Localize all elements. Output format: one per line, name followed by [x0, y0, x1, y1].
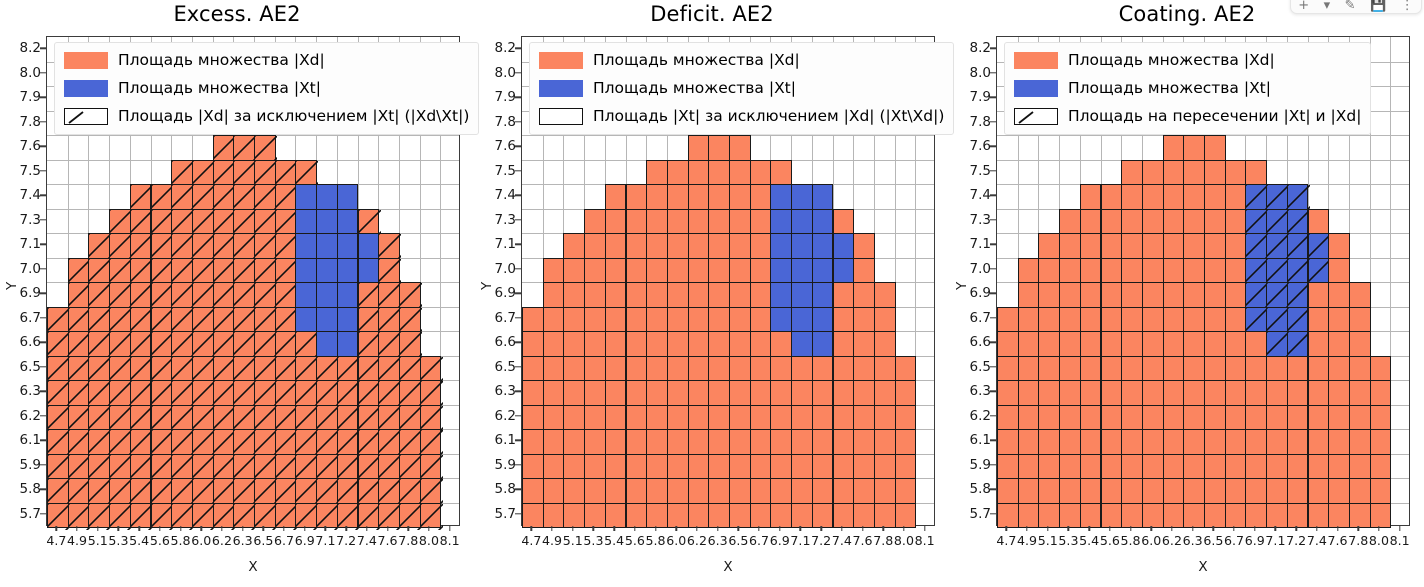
y-tick-label: 5.9 — [495, 457, 516, 473]
cell-xd — [1059, 307, 1081, 333]
cell-xd — [812, 356, 834, 382]
cell-xd — [874, 454, 896, 480]
cell-xd — [254, 160, 276, 186]
x-tick-label: 7.2 — [1286, 533, 1306, 548]
floating-toolbar[interactable]: + ▾ ✎ 💾 ⋮ — [1290, 0, 1422, 14]
y-tick-label: 6.7 — [970, 310, 991, 326]
cell-xd — [874, 307, 896, 333]
cell-xd — [853, 503, 875, 529]
cell-xd — [997, 429, 1019, 455]
cell-xt — [316, 331, 338, 357]
y-tick-mark — [40, 489, 46, 490]
cell-xd — [171, 160, 193, 186]
cell-xd — [295, 503, 317, 529]
cell-xd — [1163, 307, 1185, 333]
cell-xd — [1038, 282, 1060, 308]
figure-canvas: + ▾ ✎ 💾 ⋮ Excess. AE2Y8.28.07.97.87.67.5… — [0, 0, 1424, 587]
y-tick-mark — [990, 170, 996, 171]
cell-xd — [1204, 405, 1226, 431]
y-tick-label: 6.6 — [970, 334, 991, 350]
cell-xd — [68, 356, 90, 382]
cell-xd — [646, 282, 668, 308]
x-tick-label: 7.8 — [873, 533, 893, 548]
cell-xd — [708, 135, 730, 161]
cell-xd — [233, 331, 255, 357]
cell-xd — [874, 282, 896, 308]
x-tick-mark — [1026, 526, 1027, 531]
x-tick-mark — [118, 526, 119, 531]
cell-xd — [1018, 478, 1040, 504]
cell-xd — [1370, 454, 1392, 480]
cell-xd — [1038, 233, 1060, 259]
cell-xd — [1101, 405, 1123, 431]
cell-xt — [1245, 209, 1267, 235]
cell-xt — [1308, 233, 1330, 259]
cell-xd — [1080, 282, 1102, 308]
cell-xd — [378, 233, 400, 259]
x-tick-mark — [304, 526, 305, 531]
x-tick-label: 6.9 — [295, 533, 315, 548]
cell-xd — [399, 503, 421, 529]
cell-xd — [770, 356, 792, 382]
legend-label: Площадь множества |Xt| — [118, 81, 321, 97]
cell-xd — [770, 503, 792, 529]
cell-xd — [254, 331, 276, 357]
cell-xd — [874, 429, 896, 455]
cell-xd — [812, 503, 834, 529]
x-tick-label: 5.8 — [171, 533, 191, 548]
cell-xd — [1059, 331, 1081, 357]
cell-xt — [833, 258, 855, 284]
x-tick-label: 5.8 — [646, 533, 666, 548]
cell-xd — [626, 405, 648, 431]
cell-xd — [275, 233, 297, 259]
cell-xt — [791, 331, 813, 357]
cell-xd — [109, 405, 131, 431]
cell-xd — [1142, 478, 1164, 504]
cell-xd — [750, 503, 772, 529]
x-tick-label: 5.8 — [1121, 533, 1141, 548]
x-tick-mark — [1192, 526, 1193, 531]
cell-xd — [791, 429, 813, 455]
cell-xd — [378, 258, 400, 284]
cell-xd — [1121, 380, 1143, 406]
cell-xd — [853, 380, 875, 406]
cell-xd — [1080, 503, 1102, 529]
cell-xd — [1101, 429, 1123, 455]
cell-xt — [1308, 258, 1330, 284]
y-tick-mark — [40, 366, 46, 367]
cell-xd — [770, 160, 792, 186]
y-tick-label: 6.1 — [970, 432, 991, 448]
legend: Площадь множества |Xd|Площадь множества … — [54, 42, 479, 135]
cell-xd — [1038, 503, 1060, 529]
legend-swatch-hatched — [64, 108, 108, 125]
cell-xd — [1080, 454, 1102, 480]
x-tick-label: 5.6 — [1100, 533, 1120, 548]
cell-xd — [68, 258, 90, 284]
cell-xd — [1101, 503, 1123, 529]
cell-xd — [254, 405, 276, 431]
cell-xd — [1163, 258, 1185, 284]
cell-xd — [1018, 331, 1040, 357]
x-tick-mark — [531, 526, 532, 531]
y-tick-mark — [40, 317, 46, 318]
cell-xd — [1204, 184, 1226, 210]
cell-xt — [337, 282, 359, 308]
cell-xd — [47, 331, 69, 357]
cell-xd — [853, 307, 875, 333]
cell-xt — [1287, 282, 1309, 308]
cell-xd — [1163, 454, 1185, 480]
cell-xd — [750, 258, 772, 284]
cell-xd — [563, 380, 585, 406]
cell-xd — [1121, 160, 1143, 186]
cell-xd — [1101, 454, 1123, 480]
legend-swatch-xd — [539, 52, 583, 69]
cell-xd — [688, 405, 710, 431]
cell-xd — [1183, 307, 1205, 333]
cell-xd — [1142, 331, 1164, 357]
cell-xd — [1018, 503, 1040, 529]
cell-xd — [1121, 184, 1143, 210]
cell-xd — [543, 331, 565, 357]
cell-xd — [543, 258, 565, 284]
cell-xd — [151, 258, 173, 284]
y-tick-mark — [515, 489, 521, 490]
cell-xd — [833, 356, 855, 382]
cell-xt — [337, 331, 359, 357]
x-tick-label: 5.4 — [604, 533, 624, 548]
y-tick-label: 6.2 — [20, 408, 41, 424]
cell-xd — [853, 258, 875, 284]
cell-xd — [1328, 307, 1350, 333]
cell-xd — [192, 258, 214, 284]
cell-xd — [1142, 209, 1164, 235]
cell-xd — [791, 503, 813, 529]
x-tick-mark — [201, 526, 202, 531]
cell-xd — [1018, 380, 1040, 406]
cell-xd — [729, 478, 751, 504]
cell-xd — [1142, 184, 1164, 210]
cell-xd — [1349, 405, 1371, 431]
cell-xt — [1245, 258, 1267, 284]
x-tick-mark — [634, 526, 635, 531]
cell-xd — [1245, 356, 1267, 382]
cell-xd — [1266, 356, 1288, 382]
cell-xd — [1308, 356, 1330, 382]
cell-xd — [47, 356, 69, 382]
cell-xt — [358, 258, 380, 284]
cell-xd — [1080, 331, 1102, 357]
cell-xd — [358, 503, 380, 529]
cell-xd — [729, 356, 751, 382]
panel-deficit: Deficit. AE2Y8.28.07.97.87.67.57.47.37.1… — [475, 0, 949, 587]
cell-xd — [1121, 454, 1143, 480]
x-tick-mark — [1068, 526, 1069, 531]
x-tick-mark — [1337, 526, 1338, 531]
cell-xd — [1287, 429, 1309, 455]
cell-xd — [337, 478, 359, 504]
x-tick-label: 4.9 — [542, 533, 562, 548]
legend-swatch-plain — [539, 108, 583, 125]
cell-xd — [130, 184, 152, 210]
cell-xd — [316, 454, 338, 480]
cell-xd — [543, 429, 565, 455]
cell-xd — [997, 307, 1019, 333]
cell-xd — [667, 405, 689, 431]
cell-xd — [275, 429, 297, 455]
cell-xd — [1121, 209, 1143, 235]
legend-swatch-xd — [64, 52, 108, 69]
y-tick-mark — [515, 464, 521, 465]
cell-xd — [708, 282, 730, 308]
cell-xd — [688, 331, 710, 357]
cell-xt — [1245, 184, 1267, 210]
cell-xd — [1204, 135, 1226, 161]
cell-xd — [1101, 356, 1123, 382]
y-tick-mark — [40, 268, 46, 269]
cell-xd — [833, 307, 855, 333]
cell-xd — [109, 478, 131, 504]
cell-xd — [275, 503, 297, 529]
legend-label: Площадь множества |Xt| — [1068, 81, 1271, 97]
cell-xt — [1287, 184, 1309, 210]
cell-xd — [1101, 258, 1123, 284]
cell-xd — [109, 454, 131, 480]
y-tick-mark — [40, 121, 46, 122]
cell-xd — [812, 478, 834, 504]
cell-xd — [1204, 209, 1226, 235]
plus-icon[interactable]: + — [1298, 0, 1309, 12]
cell-xd — [750, 233, 772, 259]
cell-xd — [399, 429, 421, 455]
cell-xd — [708, 184, 730, 210]
cell-xd — [750, 184, 772, 210]
cell-xd — [1183, 184, 1205, 210]
y-tick-mark — [515, 170, 521, 171]
legend-item: Площадь |Xd| за исключением |Xt| (|Xd\Xt… — [64, 106, 469, 127]
x-tick-label: 7.4 — [1307, 533, 1327, 548]
cell-xd — [1308, 331, 1330, 357]
cell-xd — [358, 331, 380, 357]
cell-xd — [233, 454, 255, 480]
cell-xd — [1225, 429, 1247, 455]
chevron-down-icon[interactable]: ▾ — [1324, 0, 1331, 12]
cell-xd — [399, 282, 421, 308]
cell-xd — [358, 429, 380, 455]
x-tick-label: 6.2 — [212, 533, 232, 548]
x-tick-label: 7.1 — [790, 533, 810, 548]
cell-xd — [1183, 380, 1205, 406]
cell-xd — [667, 331, 689, 357]
cell-xd — [1287, 478, 1309, 504]
cell-xd — [275, 405, 297, 431]
y-tick-label: 8.0 — [20, 65, 41, 81]
cell-xd — [708, 503, 730, 529]
cell-xd — [1121, 356, 1143, 382]
x-tick-label: 5.4 — [1079, 533, 1099, 548]
cell-xd — [151, 454, 173, 480]
cell-xd — [337, 454, 359, 480]
cell-xd — [130, 454, 152, 480]
cell-xd — [1080, 356, 1102, 382]
cell-xd — [109, 258, 131, 284]
cell-xd — [1328, 331, 1350, 357]
y-tick-mark — [990, 415, 996, 416]
cell-xd — [1101, 478, 1123, 504]
more-icon[interactable]: ⋮ — [1401, 0, 1414, 12]
cell-xt — [812, 331, 834, 357]
x-tick-mark — [1254, 526, 1255, 531]
y-tick-mark — [40, 391, 46, 392]
cell-xd — [1245, 478, 1267, 504]
cell-xd — [1308, 503, 1330, 529]
cell-xd — [833, 429, 855, 455]
x-axis-label: X — [521, 559, 935, 575]
cell-xd — [1183, 429, 1205, 455]
cell-xd — [130, 209, 152, 235]
cell-xd — [626, 331, 648, 357]
cell-xd — [750, 405, 772, 431]
cell-xd — [1038, 258, 1060, 284]
x-tick-label: 7.6 — [853, 533, 873, 548]
cell-xd — [1370, 503, 1392, 529]
cell-xd — [667, 356, 689, 382]
y-tick-mark — [990, 244, 996, 245]
cell-xd — [337, 356, 359, 382]
cell-xd — [1163, 503, 1185, 529]
y-tick-label: 7.8 — [495, 114, 516, 130]
cell-xd — [213, 233, 235, 259]
x-tick-label: 6.3 — [708, 533, 728, 548]
cell-xd — [1059, 478, 1081, 504]
cell-xd — [420, 429, 442, 455]
cell-xd — [1245, 405, 1267, 431]
cell-xt — [316, 258, 338, 284]
cell-xd — [275, 356, 297, 382]
cell-xt — [337, 209, 359, 235]
cell-xd — [770, 478, 792, 504]
cell-xd — [833, 503, 855, 529]
cell-xd — [543, 356, 565, 382]
cell-xd — [708, 331, 730, 357]
cell-xd — [378, 282, 400, 308]
cell-xd — [1349, 478, 1371, 504]
cell-xd — [192, 380, 214, 406]
cell-xd — [1204, 160, 1226, 186]
cell-xd — [1038, 307, 1060, 333]
cell-xd — [853, 282, 875, 308]
cell-xd — [233, 282, 255, 308]
cell-xd — [254, 233, 276, 259]
cell-xd — [275, 331, 297, 357]
pencil-icon[interactable]: ✎ — [1345, 0, 1356, 12]
x-tick-mark — [180, 526, 181, 531]
cell-xt — [295, 209, 317, 235]
y-tick-label: 8.2 — [495, 40, 516, 56]
cell-xd — [667, 307, 689, 333]
cell-xd — [584, 331, 606, 357]
cell-xd — [171, 233, 193, 259]
cell-xd — [88, 258, 110, 284]
cell-xd — [646, 356, 668, 382]
cell-xd — [1308, 282, 1330, 308]
cell-xd — [1287, 454, 1309, 480]
legend-label: Площадь множества |Xt| — [593, 81, 796, 97]
cell-xd — [1059, 429, 1081, 455]
cell-xd — [1287, 503, 1309, 529]
y-tick-mark — [515, 293, 521, 294]
cell-xd — [708, 356, 730, 382]
cell-xt — [1266, 258, 1288, 284]
cell-xd — [151, 405, 173, 431]
x-tick-mark — [263, 526, 264, 531]
x-tick-mark — [366, 526, 367, 531]
cell-xd — [47, 454, 69, 480]
cell-xd — [151, 307, 173, 333]
y-tick-label: 5.7 — [970, 506, 991, 522]
cell-xd — [1059, 282, 1081, 308]
cell-xd — [1245, 160, 1267, 186]
y-tick-label: 7.9 — [20, 89, 41, 105]
cell-xd — [254, 478, 276, 504]
cell-xd — [213, 282, 235, 308]
cell-xd — [729, 233, 751, 259]
cell-xd — [1080, 258, 1102, 284]
legend-item: Площадь множества |Xt| — [64, 78, 469, 99]
x-tick-mark — [841, 526, 842, 531]
cell-xd — [213, 454, 235, 480]
x-tick-mark — [138, 526, 139, 531]
y-tick-label: 7.1 — [970, 236, 991, 252]
cell-xd — [708, 307, 730, 333]
cell-xd — [626, 478, 648, 504]
y-tick-mark — [990, 440, 996, 441]
cell-xd — [1328, 503, 1350, 529]
cell-xd — [646, 258, 668, 284]
cell-xd — [874, 380, 896, 406]
cell-xd — [1349, 503, 1371, 529]
cell-xd — [358, 380, 380, 406]
x-tick-label: 5.1 — [88, 533, 108, 548]
y-tick-mark — [515, 48, 521, 49]
legend-swatch-hatched — [1014, 108, 1058, 125]
x-tick-mark — [428, 526, 429, 531]
cell-xd — [1204, 503, 1226, 529]
cell-xd — [1245, 331, 1267, 357]
legend-item: Площадь множества |Xt| — [539, 78, 944, 99]
cell-xd — [1059, 233, 1081, 259]
cell-xd — [563, 478, 585, 504]
cell-xd — [171, 503, 193, 529]
cell-xd — [667, 478, 689, 504]
x-tick-mark — [758, 526, 759, 531]
save-icon[interactable]: 💾 — [1370, 0, 1386, 12]
cell-xd — [1183, 282, 1205, 308]
cell-xd — [1038, 405, 1060, 431]
cell-xd — [420, 356, 442, 382]
cell-xd — [254, 209, 276, 235]
cell-xd — [1328, 282, 1350, 308]
cell-xd — [151, 233, 173, 259]
legend: Площадь множества |Xd|Площадь множества … — [529, 42, 954, 135]
x-tick-label: 5.3 — [1058, 533, 1078, 548]
cell-xd — [667, 282, 689, 308]
x-tick-mark — [1358, 526, 1359, 531]
x-tick-label: 8.0 — [1369, 533, 1389, 548]
y-tick-mark — [515, 415, 521, 416]
